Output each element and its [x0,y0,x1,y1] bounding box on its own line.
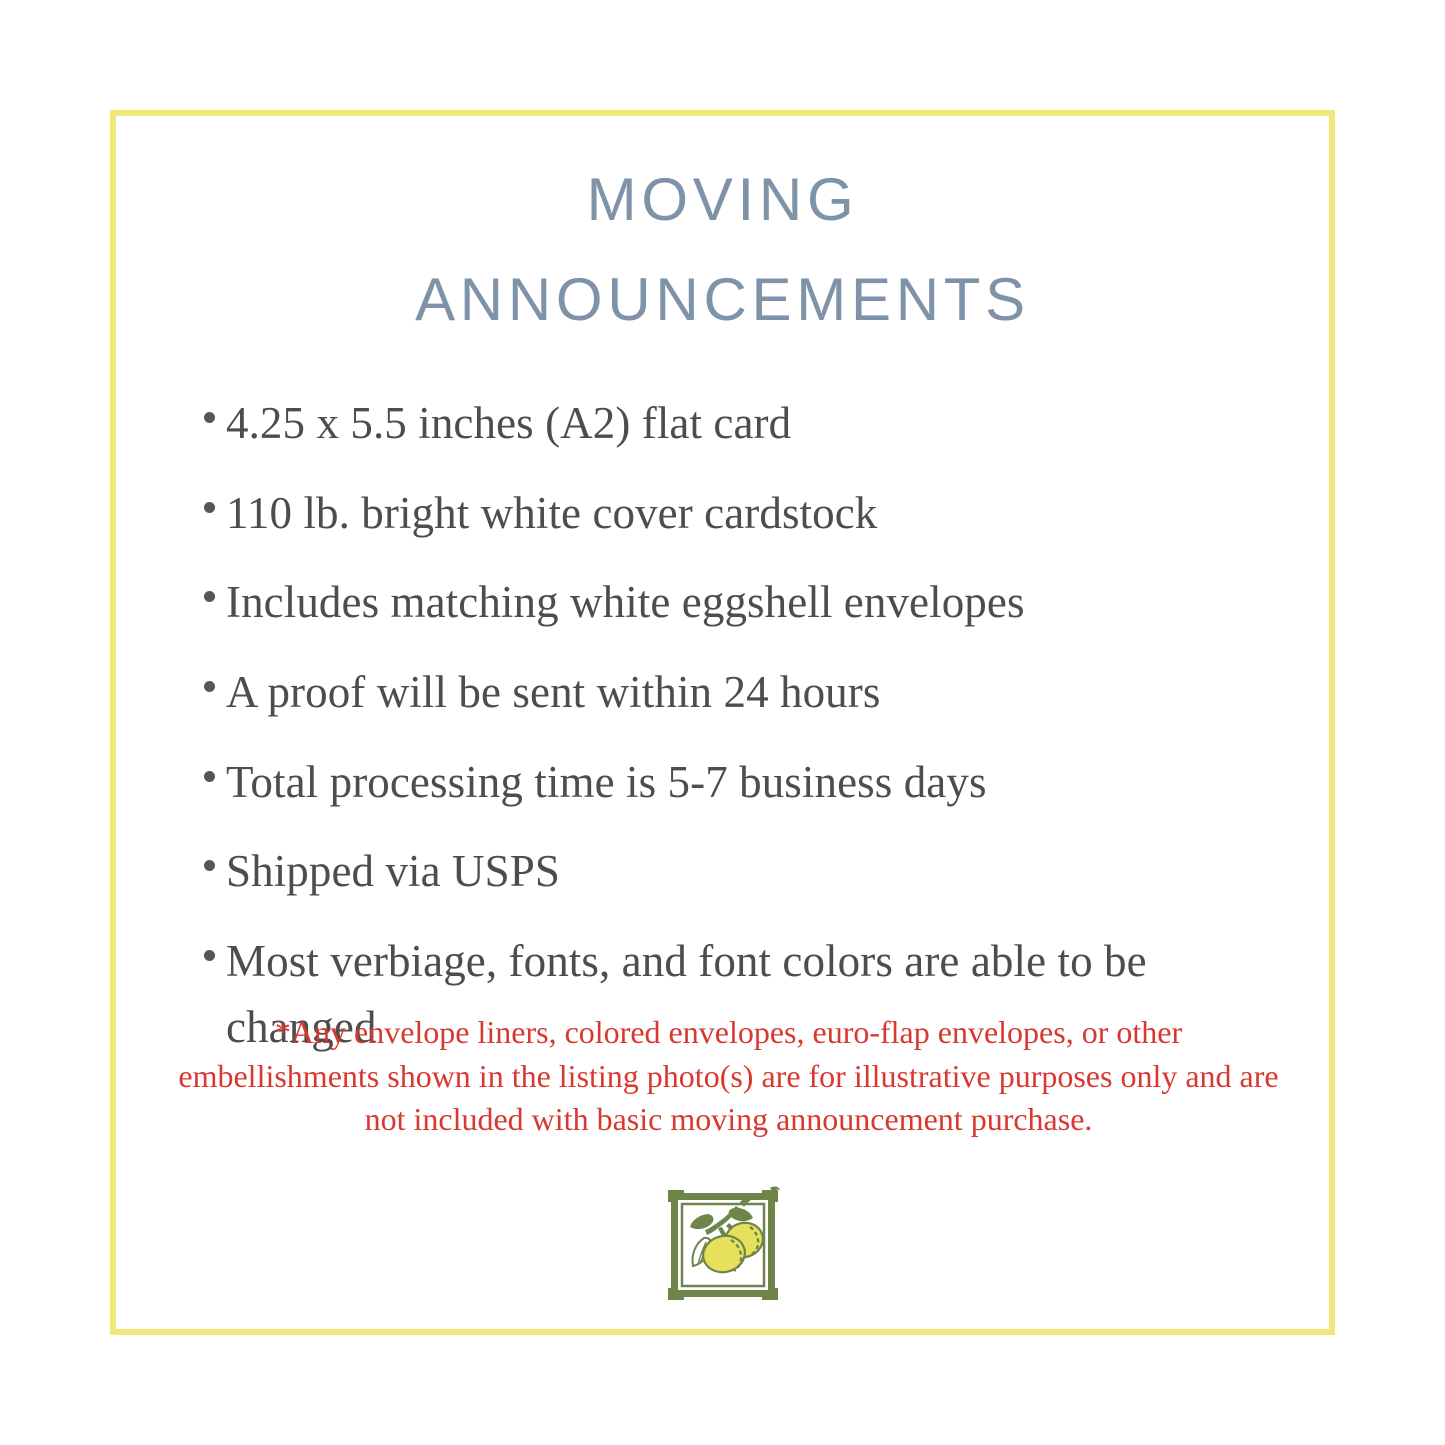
title-line-2: Announcements [116,248,1329,334]
bullet-dot-icon [194,839,226,871]
bullet-dot-icon [194,570,226,602]
disclaimer-note: *Any envelope liners, colored envelopes,… [171,1011,1286,1142]
list-item-label: 110 lb. bright white cover cardstock [226,481,1269,547]
list-item: Includes matching white eggshell envelop… [194,570,1269,636]
brand-logo [116,1184,1329,1306]
list-item: 110 lb. bright white cover cardstock [194,481,1269,547]
lemon-branch-framed-logo-icon [662,1184,784,1306]
page-title: Moving Announcements [116,148,1329,334]
list-item: Shipped via USPS [194,839,1269,905]
list-item-label: Shipped via USPS [226,839,1269,905]
list-item-label: Total processing time is 5-7 business da… [226,750,1269,816]
title-line-1: Moving [116,148,1329,234]
list-item-label: A proof will be sent within 24 hours [226,660,1269,726]
bullet-dot-icon [194,929,226,961]
bullet-dot-icon [194,481,226,513]
listing-info-card: Moving Announcements 4.25 x 5.5 inches (… [110,110,1335,1335]
bullet-dot-icon [194,660,226,692]
list-item-label: Includes matching white eggshell envelop… [226,570,1269,636]
bullet-dot-icon [194,391,226,423]
product-details-list: 4.25 x 5.5 inches (A2) flat card 110 lb.… [194,391,1269,1085]
list-item: A proof will be sent within 24 hours [194,660,1269,726]
list-item: Total processing time is 5-7 business da… [194,750,1269,816]
bullet-dot-icon [194,750,226,782]
list-item: 4.25 x 5.5 inches (A2) flat card [194,391,1269,457]
list-item-label: 4.25 x 5.5 inches (A2) flat card [226,391,1269,457]
